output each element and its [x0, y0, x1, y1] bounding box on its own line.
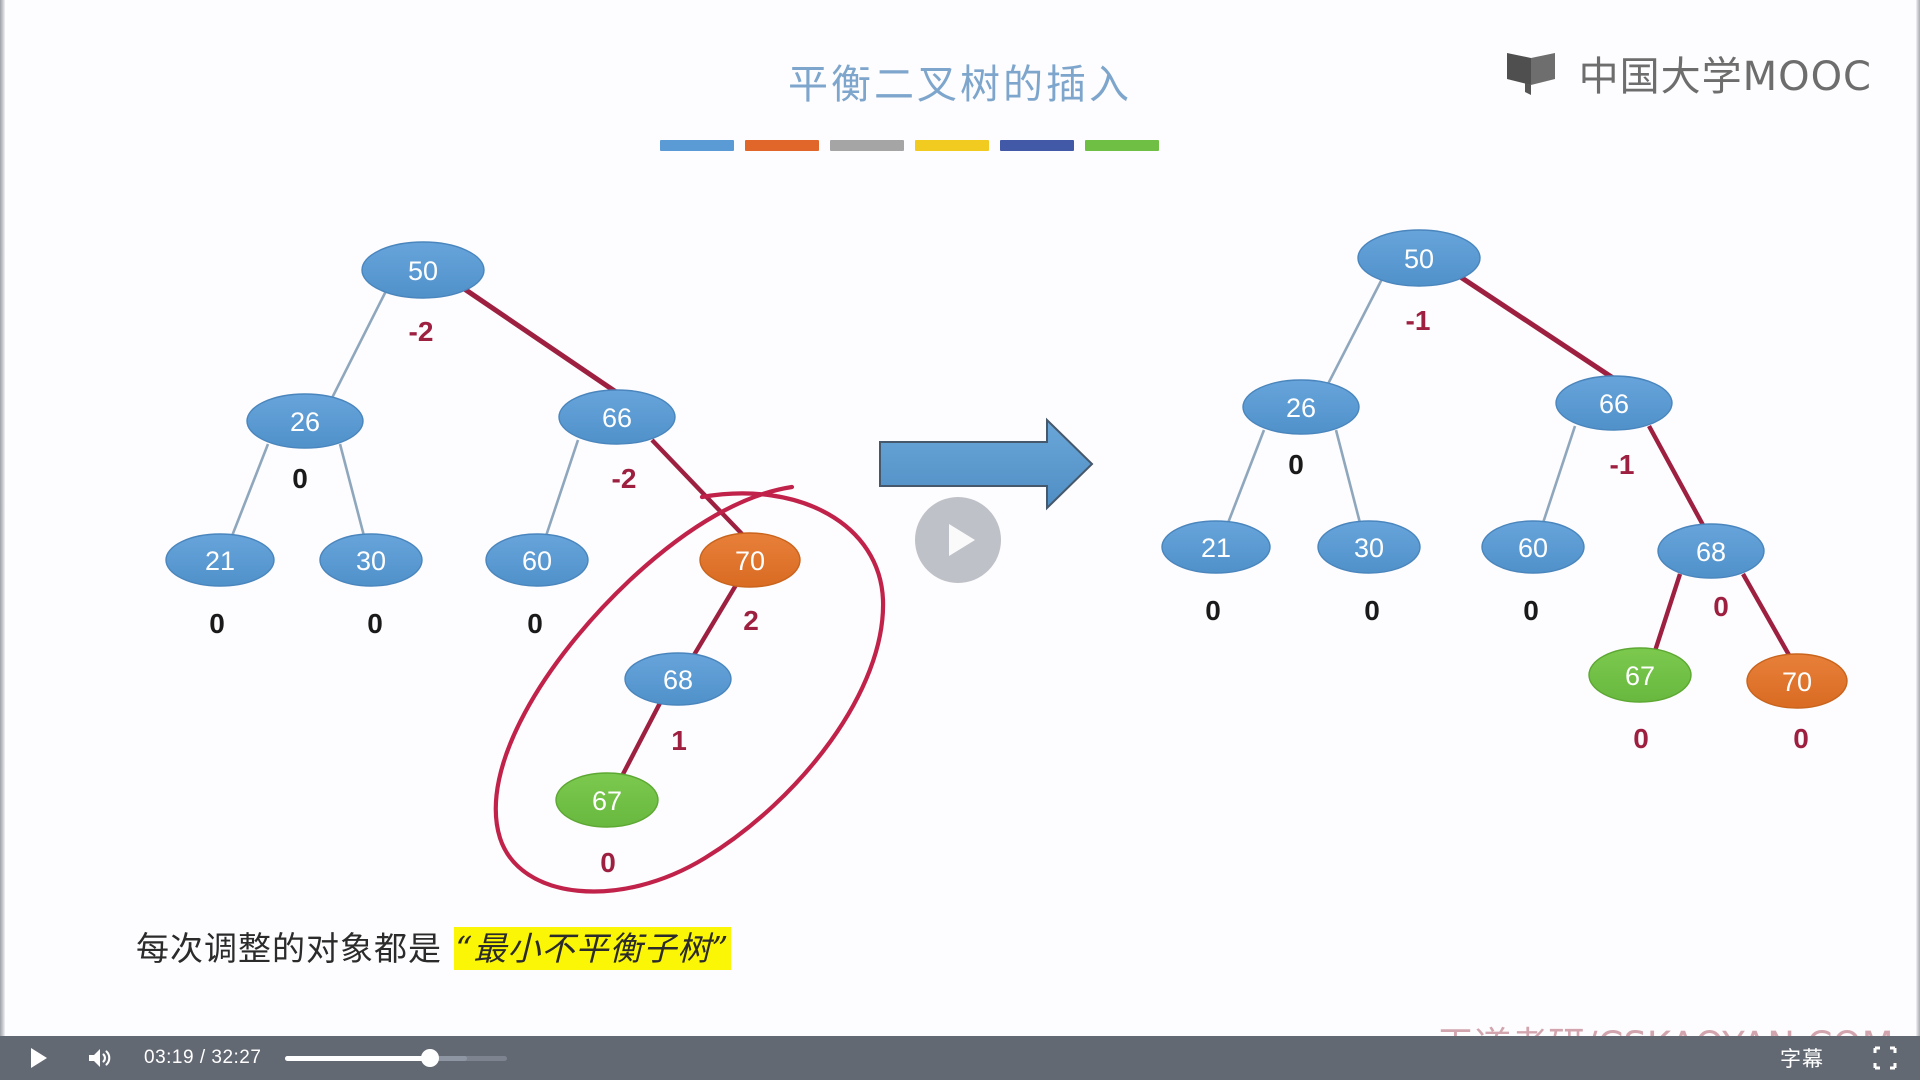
balance-factor-50-right: -1: [1406, 305, 1431, 336]
tree-node-70-right[interactable]: 70: [1747, 654, 1847, 708]
accent-bar-1: [660, 140, 734, 151]
tree-node-50-right[interactable]: 50: [1358, 230, 1480, 286]
node-value: 66: [602, 403, 632, 433]
play-triangle-icon: [949, 524, 975, 556]
balance-factor-67-right: 0: [1633, 723, 1649, 754]
node-value: 60: [522, 546, 552, 576]
tree-node-26-right[interactable]: 26: [1243, 380, 1359, 434]
left-tree-edges: [232, 288, 742, 776]
slide-caption: 每次调整的对象都是 “最小不平衡子树”: [136, 922, 731, 970]
subtitle-button[interactable]: 字幕: [1754, 1043, 1850, 1073]
balance-factor-68-left: 1: [671, 725, 687, 756]
book-icon: [1505, 49, 1565, 97]
accent-bar-6: [1085, 140, 1159, 151]
time-display: 03:19 / 32:27: [144, 1047, 261, 1069]
tree-node-60-right[interactable]: 60: [1482, 521, 1584, 573]
node-value: 68: [1696, 537, 1726, 567]
balance-factor-60-left: 0: [527, 608, 543, 639]
balance-factor-50-left: -2: [409, 316, 434, 347]
tree-node-50-left[interactable]: 50: [362, 242, 484, 298]
video-player-viewport: 平衡二叉树的插入 中国大学MOOC: [0, 0, 1920, 1080]
tree-node-67-left[interactable]: 67: [556, 773, 658, 827]
tree-node-68-left[interactable]: 68: [625, 653, 731, 705]
control-bar-right-group: 字幕: [1754, 1036, 1920, 1080]
title-accent-bars: [660, 140, 1159, 151]
play-button[interactable]: [0, 1036, 68, 1080]
play-icon: [28, 1046, 50, 1070]
right-tree-edges: [1228, 276, 1789, 655]
node-value: 21: [205, 546, 235, 576]
tree-node-30-right[interactable]: 30: [1318, 521, 1420, 573]
tree-node-21-right[interactable]: 21: [1162, 521, 1270, 573]
node-value: 30: [356, 546, 386, 576]
mooc-logo-text: 中国大学MOOC: [1579, 44, 1872, 102]
video-control-bar: 03:19 / 32:27 字幕: [0, 1036, 1920, 1080]
node-value: 66: [1599, 389, 1629, 419]
node-value: 67: [1625, 661, 1655, 691]
tree-node-68-right[interactable]: 68: [1658, 524, 1764, 578]
balance-factor-26-right: 0: [1288, 449, 1304, 480]
tree-node-60-left[interactable]: 60: [486, 534, 588, 586]
progress-knob[interactable]: [421, 1049, 439, 1067]
left-tree-nodes: 50 -2 26 0 66 -2 21 0: [166, 242, 800, 878]
slide-left-border: [0, 0, 5, 1042]
tree-node-30-left[interactable]: 30: [320, 534, 422, 586]
balance-factor-30-left: 0: [367, 608, 383, 639]
balance-factor-70-right: 0: [1793, 723, 1809, 754]
node-value: 70: [1782, 667, 1812, 697]
node-value: 68: [663, 665, 693, 695]
balance-factor-66-left: -2: [612, 463, 637, 494]
node-value: 26: [1286, 393, 1316, 423]
balance-factor-60-right: 0: [1523, 595, 1539, 626]
center-play-overlay-button[interactable]: [915, 497, 1001, 583]
tree-node-21-left[interactable]: 21: [166, 534, 274, 586]
caption-highlight: “最小不平衡子树”: [454, 927, 732, 970]
tree-node-66-left[interactable]: 66: [559, 390, 675, 444]
balance-factor-70-left: 2: [743, 605, 759, 636]
accent-bar-3: [830, 140, 904, 151]
node-value: 50: [408, 256, 438, 286]
volume-button[interactable]: [68, 1036, 134, 1080]
volume-icon: [87, 1046, 115, 1070]
tree-node-70-left[interactable]: 70: [700, 533, 800, 587]
node-value: 30: [1354, 533, 1384, 563]
balance-factor-66-right: -1: [1610, 449, 1635, 480]
accent-bar-5: [1000, 140, 1074, 151]
tree-node-26-left[interactable]: 26: [247, 394, 363, 448]
node-value: 67: [592, 786, 622, 816]
balance-factor-21-left: 0: [209, 608, 225, 639]
balance-factor-21-right: 0: [1205, 595, 1221, 626]
node-value: 70: [735, 546, 765, 576]
node-value: 50: [1404, 244, 1434, 274]
exit-fullscreen-button[interactable]: [1850, 1036, 1920, 1080]
balance-factor-67-left: 0: [600, 847, 616, 878]
tree-node-66-right[interactable]: 66: [1556, 376, 1672, 430]
node-value: 60: [1518, 533, 1548, 563]
accent-bar-2: [745, 140, 819, 151]
right-tree-nodes: 50 -1 26 0 66 -1 21 0: [1162, 230, 1847, 754]
balance-factor-30-right: 0: [1364, 595, 1380, 626]
transition-arrow: [880, 420, 1092, 508]
mooc-logo: 中国大学MOOC: [1505, 44, 1872, 102]
balance-factor-26-left: 0: [292, 463, 308, 494]
balance-factor-68-right: 0: [1713, 591, 1729, 622]
caption-prefix: 每次调整的对象都是: [136, 929, 442, 968]
slide-right-border: [1916, 0, 1920, 1042]
exit-fullscreen-icon: [1872, 1045, 1898, 1071]
node-value: 26: [290, 407, 320, 437]
progress-fill: [285, 1056, 430, 1061]
tree-node-67-right[interactable]: 67: [1589, 648, 1691, 702]
minimum-unbalanced-subtree-circle: [496, 487, 883, 891]
accent-bar-4: [915, 140, 989, 151]
progress-slider[interactable]: [285, 1036, 507, 1080]
node-value: 21: [1201, 533, 1231, 563]
